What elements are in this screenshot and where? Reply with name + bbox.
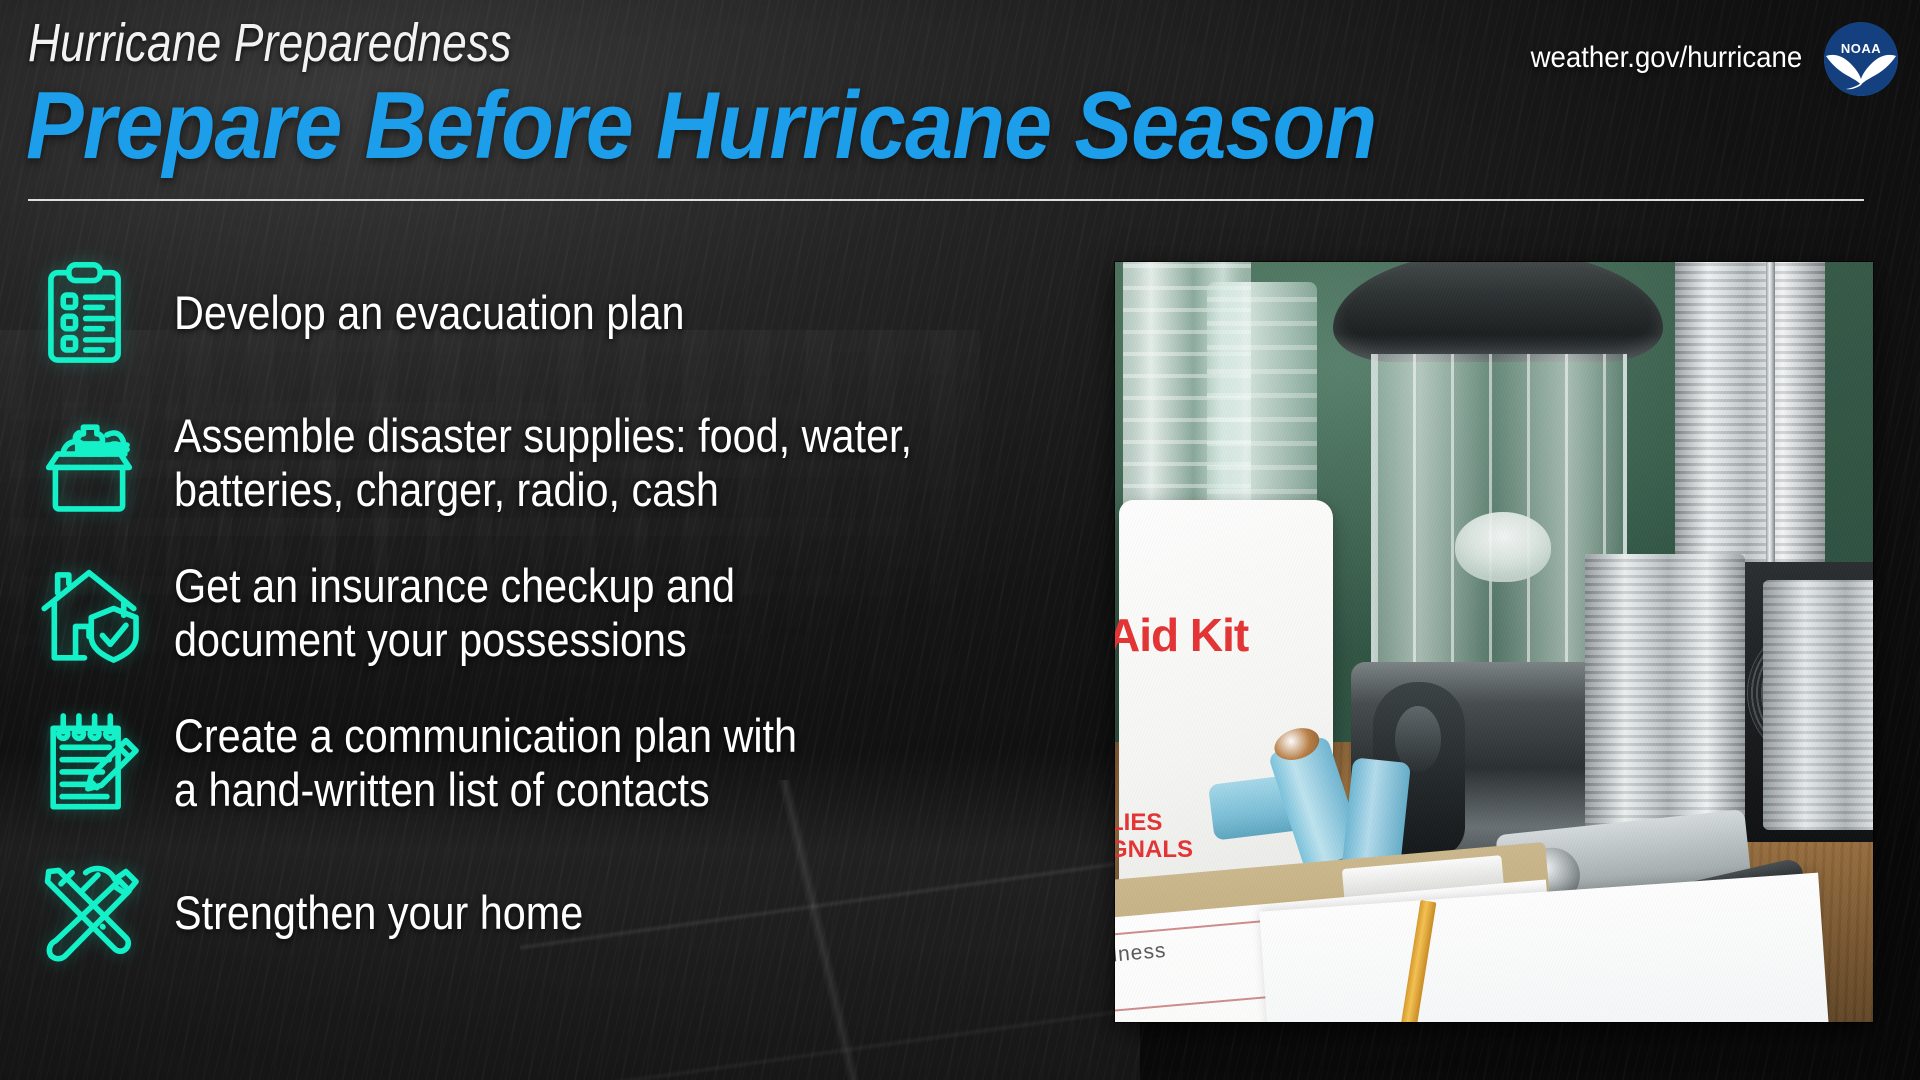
eyebrow-title: Hurricane Preparedness [28, 16, 512, 70]
list-item: Get an insurance checkup and document yo… [30, 538, 1090, 688]
photo-canned-food-mid [1585, 554, 1745, 834]
emergency-supplies-photo: Aid Kit LIES GNALS eparedness cklist k i… [1115, 262, 1873, 1022]
clipboard-checklist-icon [30, 257, 148, 369]
preparedness-checklist: Develop an evacuation plan Assemble disa… [30, 238, 1090, 988]
notepad-pencil-row: Create a communication plan with a hand-… [30, 688, 1090, 838]
photo-lantern-hood [1333, 262, 1663, 362]
noaa-logo: NOAA [1824, 22, 1898, 96]
list-item: Develop an evacuation plan [30, 238, 1090, 388]
first-aid-kit-title: Aid Kit [1115, 608, 1248, 662]
list-item-label: Create a communication plan with a hand-… [174, 709, 797, 816]
first-aid-kit-subtext: LIES GNALS [1115, 810, 1193, 864]
noaa-logo-text: NOAA [1824, 41, 1898, 56]
list-item-label: Assemble disaster supplies: food, water,… [174, 409, 912, 516]
list-item-label: Develop an evacuation plan [174, 286, 684, 340]
list-item: Assemble disaster supplies: food, water,… [30, 388, 1090, 538]
site-url-label: weather.gov/hurricane [1530, 43, 1802, 73]
list-item: Strengthen your home [30, 838, 1090, 988]
title-divider [28, 199, 1864, 201]
photo-canned-food-right [1763, 580, 1873, 830]
photo-lantern-mantle [1455, 512, 1551, 582]
photo-canned-food-tall [1675, 262, 1825, 586]
hurricane-preparedness-poster: Hurricane Preparedness Prepare Before Hu… [0, 0, 1920, 1080]
list-item-label: Get an insurance checkup and document yo… [174, 559, 735, 666]
house-shield-check-icon [30, 557, 148, 669]
photo-radio-antenna [1766, 262, 1775, 592]
notepad-pencil-icon [30, 707, 148, 819]
page-title: Prepare Before Hurricane Season [26, 78, 1376, 174]
list-item-label: Strengthen your home [174, 886, 583, 940]
hammer-screwdriver-icon [30, 857, 148, 969]
supplies-box-icon [30, 407, 148, 519]
